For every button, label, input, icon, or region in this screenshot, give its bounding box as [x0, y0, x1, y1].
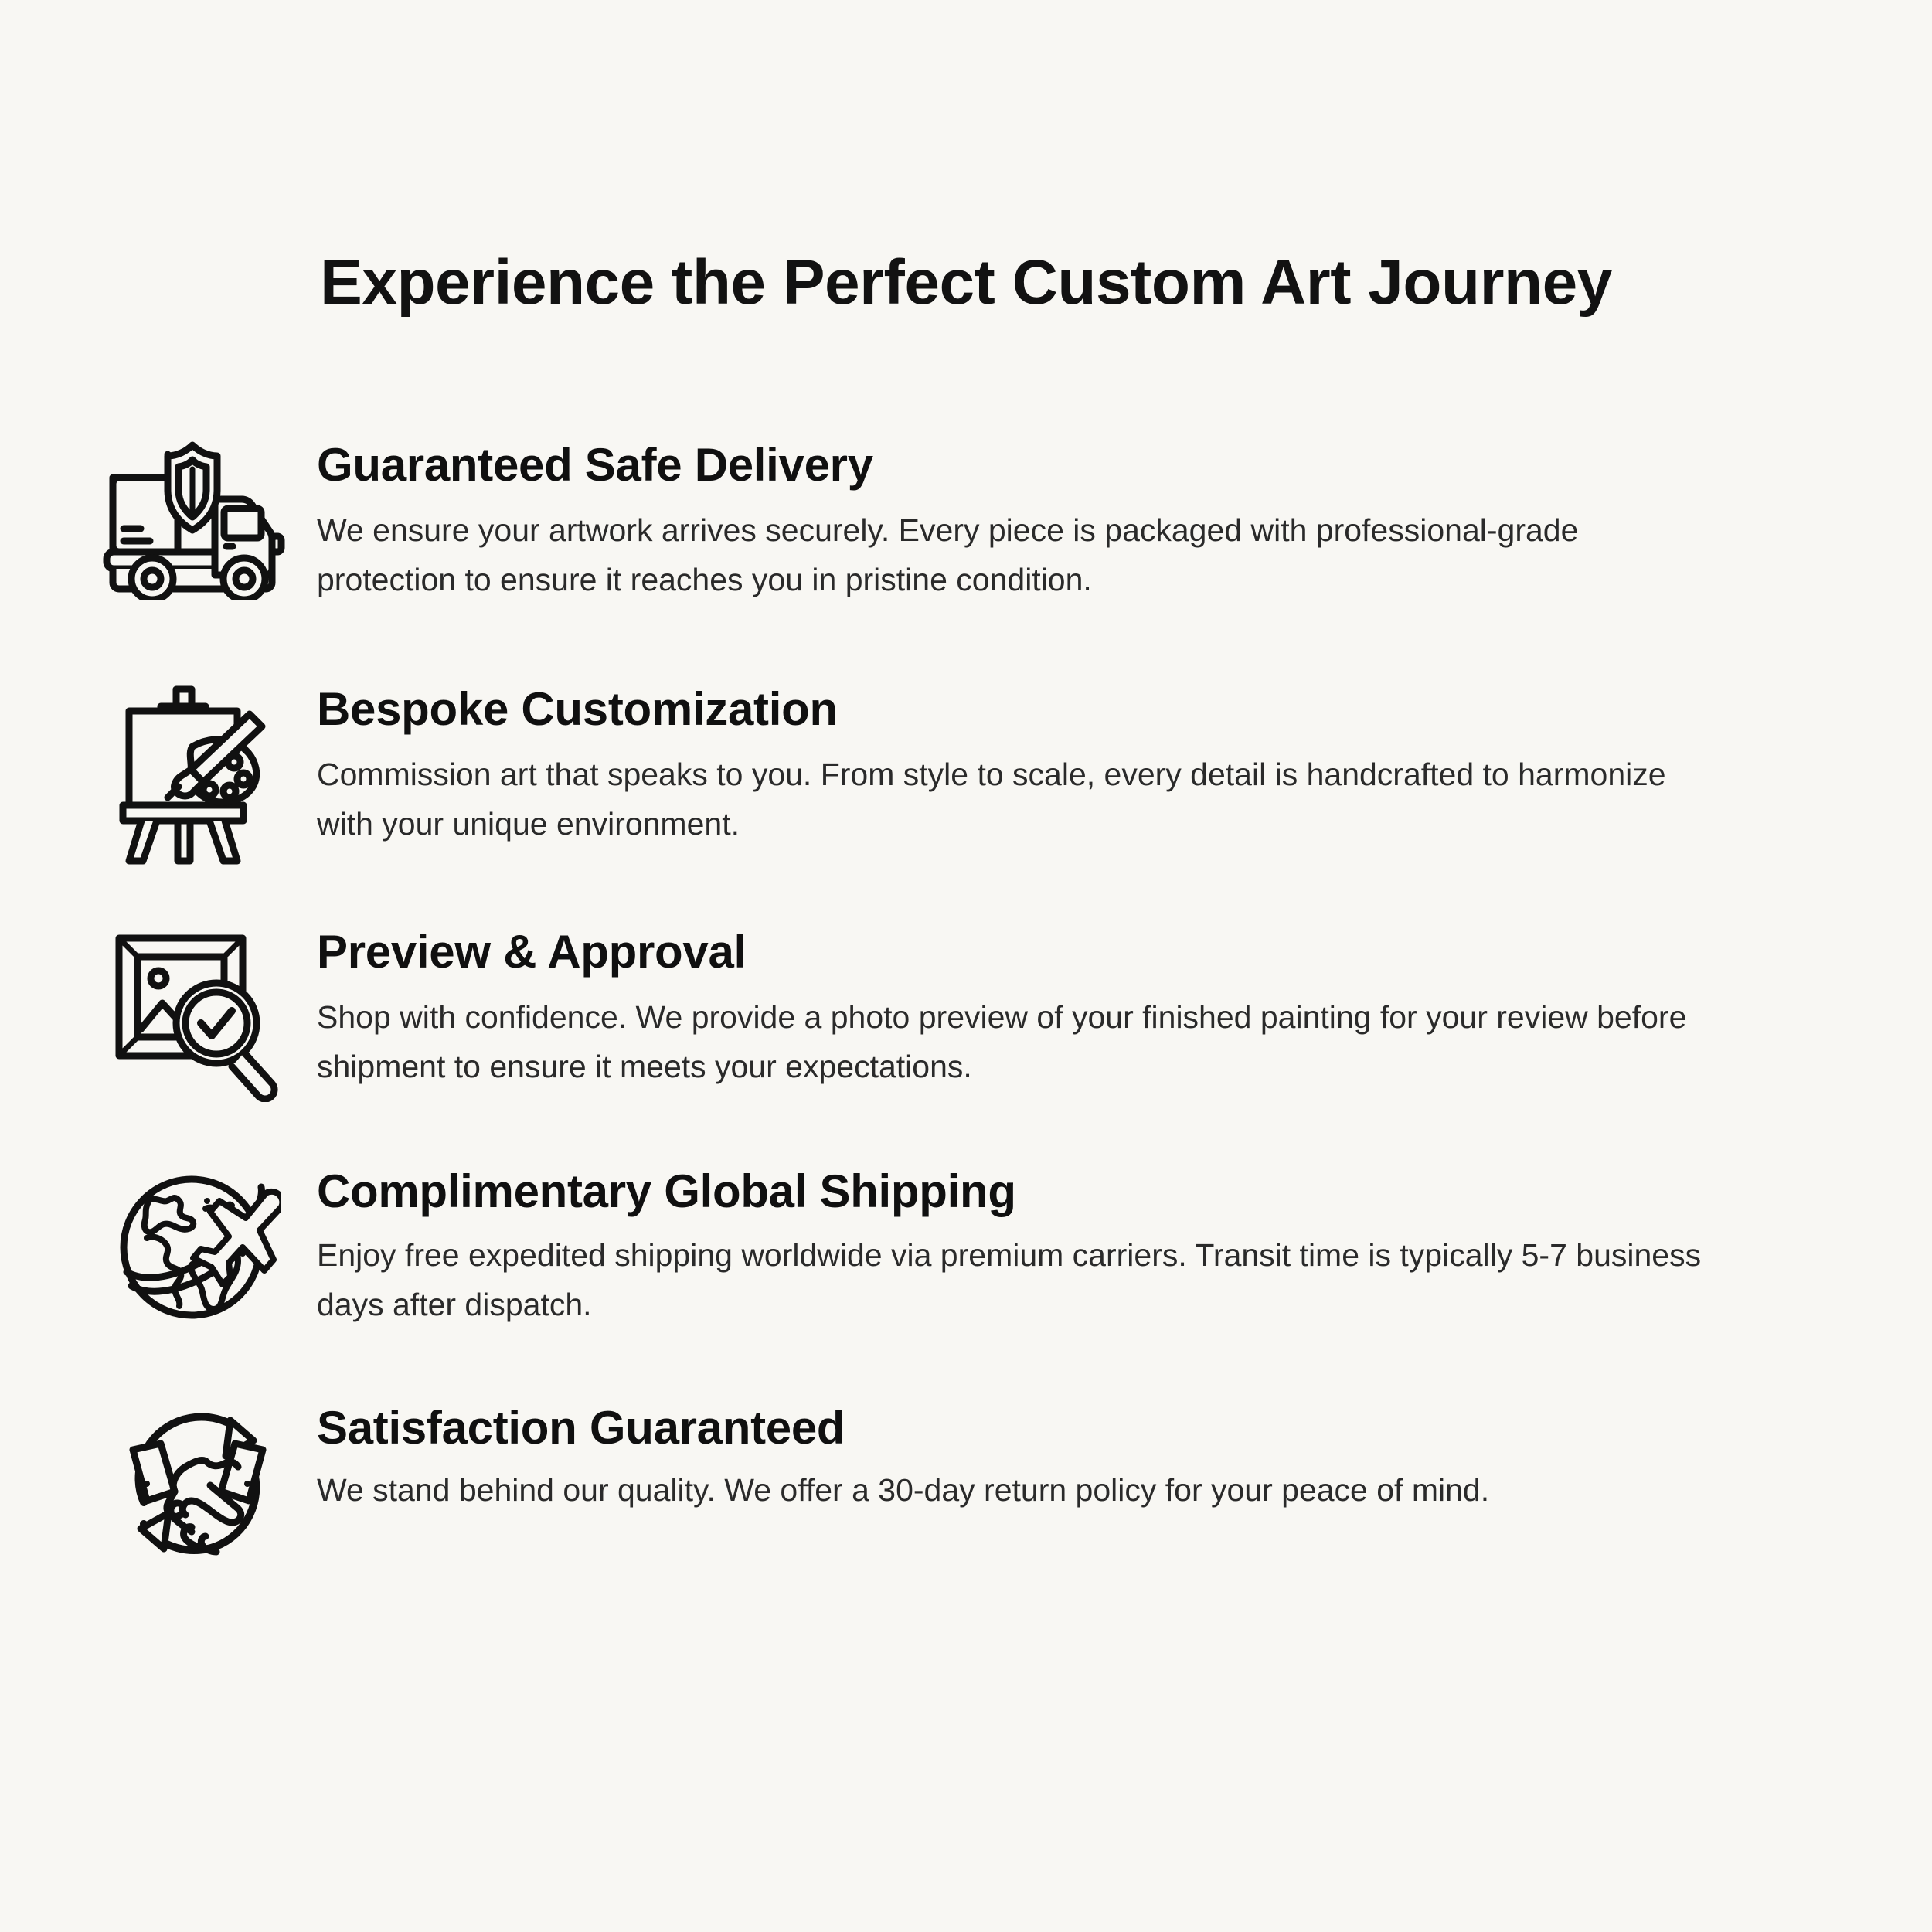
- page-title: Experience the Perfect Custom Art Journe…: [0, 250, 1932, 316]
- delivery-truck-shield-icon: [85, 433, 309, 641]
- feature-item: Guaranteed Safe Delivery We ensure your …: [85, 433, 1855, 641]
- feature-item: Preview & Approval Shop with confidence.…: [85, 920, 1855, 1128]
- globe-airplane-icon: [85, 1159, 309, 1368]
- feature-list: Guaranteed Safe Delivery We ensure your …: [85, 433, 1855, 1604]
- feature-text: Guaranteed Safe Delivery We ensure your …: [309, 433, 1855, 604]
- feature-heading: Bespoke Customization: [317, 683, 1855, 735]
- feature-description: Enjoy free expedited shipping worldwide …: [317, 1231, 1708, 1329]
- feature-text: Complimentary Global Shipping Enjoy free…: [309, 1159, 1855, 1329]
- feature-text: Satisfaction Guaranteed We stand behind …: [309, 1396, 1855, 1515]
- feature-heading: Satisfaction Guaranteed: [317, 1402, 1855, 1454]
- feature-description: Commission art that speaks to you. From …: [317, 750, 1700, 849]
- feature-item: Satisfaction Guaranteed We stand behind …: [85, 1396, 1855, 1604]
- feature-heading: Preview & Approval: [317, 926, 1855, 978]
- easel-palette-brush-icon: [85, 677, 309, 886]
- feature-description: Shop with confidence. We provide a photo…: [317, 993, 1700, 1091]
- feature-description: We ensure your artwork arrives securely.…: [317, 506, 1708, 604]
- feature-item: Complimentary Global Shipping Enjoy free…: [85, 1159, 1855, 1368]
- feature-text: Bespoke Customization Commission art tha…: [309, 677, 1855, 849]
- framed-picture-magnifier-check-icon: [85, 920, 309, 1128]
- feature-item: Bespoke Customization Commission art tha…: [85, 677, 1855, 886]
- feature-heading: Guaranteed Safe Delivery: [317, 439, 1855, 491]
- feature-description: We stand behind our quality. We offer a …: [317, 1466, 1855, 1515]
- handshake-arrows-icon: [85, 1396, 309, 1604]
- feature-text: Preview & Approval Shop with confidence.…: [309, 920, 1855, 1091]
- feature-benefits-section: Experience the Perfect Custom Art Journe…: [0, 0, 1932, 1932]
- feature-heading: Complimentary Global Shipping: [317, 1165, 1855, 1217]
